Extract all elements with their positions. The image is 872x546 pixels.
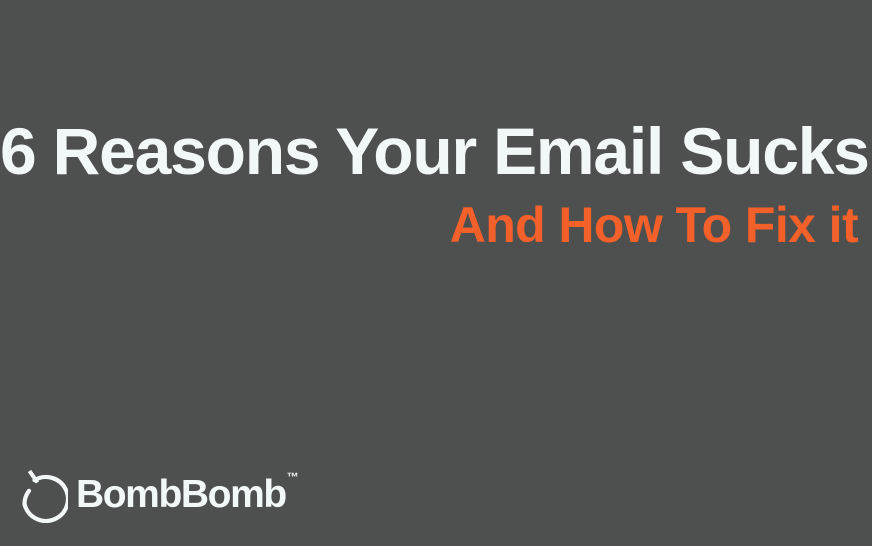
presentation-slide: 6 Reasons Your Email Sucks And How To Fi… bbox=[0, 0, 872, 546]
trademark-symbol: ™ bbox=[287, 470, 299, 484]
bombbomb-logo: BombBomb™ bbox=[18, 464, 298, 524]
page-subtitle: And How To Fix it bbox=[0, 200, 858, 250]
title-block: 6 Reasons Your Email Sucks And How To Fi… bbox=[0, 118, 858, 250]
page-title: 6 Reasons Your Email Sucks bbox=[0, 118, 858, 184]
bomb-icon bbox=[18, 465, 68, 523]
logo-wordmark-text: BombBomb bbox=[76, 473, 286, 516]
logo-wordmark: BombBomb™ bbox=[76, 475, 298, 514]
